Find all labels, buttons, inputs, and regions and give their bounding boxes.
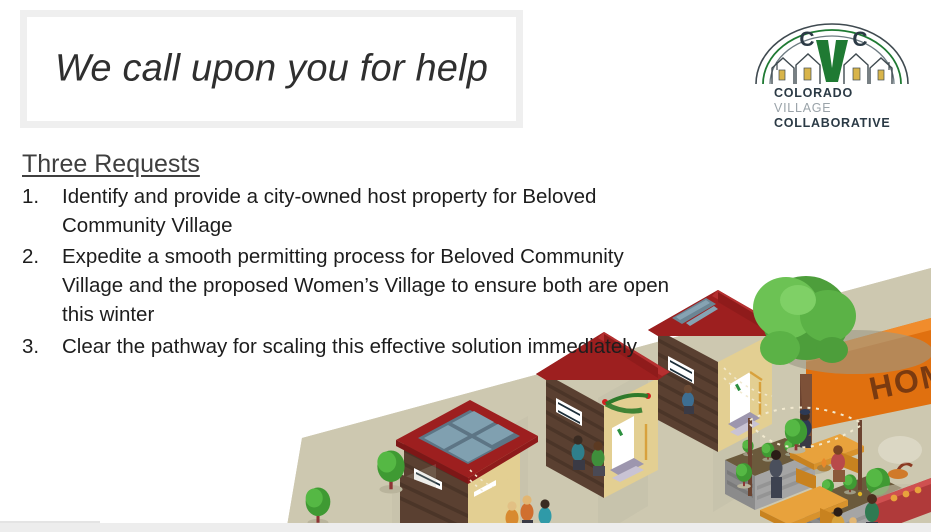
person-figure xyxy=(770,450,783,498)
tree-shadow xyxy=(777,330,931,374)
picnic-table-back xyxy=(790,434,864,490)
string-light-poles xyxy=(748,392,862,502)
list-item-number: 1. xyxy=(22,182,48,211)
section-heading: Three Requests xyxy=(22,150,200,179)
garden-planter-left xyxy=(725,438,815,510)
window xyxy=(414,468,442,498)
tree-courtyard-c xyxy=(736,463,752,488)
door xyxy=(612,416,634,470)
tiny-house-2 xyxy=(396,400,552,532)
person-figure xyxy=(682,385,694,414)
title-box: We call upon you for help xyxy=(20,10,523,128)
slide-canvas: HOME xyxy=(0,0,931,532)
door xyxy=(730,372,750,424)
food-stand xyxy=(869,436,931,532)
logo-line-village: VILLAGE xyxy=(774,101,890,116)
list-item: 2. Expedite a smooth permitting process … xyxy=(20,242,680,329)
requests-list: 1. Identify and provide a city-owned hos… xyxy=(20,182,680,363)
cvc-logo: C C COLORADO VILLAGE COLLABORATIVE xyxy=(742,18,922,130)
list-item-text: Clear the pathway for scaling this effec… xyxy=(62,332,680,361)
list-item-text: Identify and provide a city-owned host p… xyxy=(62,182,680,240)
person-figure xyxy=(831,445,845,482)
tree-front-left xyxy=(306,488,331,527)
person-figure xyxy=(572,435,586,470)
list-item-text: Expedite a smooth permitting process for… xyxy=(62,242,680,329)
viewer-bottom-strip xyxy=(0,523,931,532)
logo-line-collaborative: COLLABORATIVE xyxy=(774,116,890,131)
logo-line-colorado: COLORADO xyxy=(774,86,890,101)
solar-panel xyxy=(418,410,520,464)
cvc-arch-icon: C C xyxy=(750,18,914,88)
window xyxy=(556,398,582,426)
home-banner-ramp-top xyxy=(806,318,931,362)
list-item: 3. Clear the pathway for scaling this ef… xyxy=(20,332,680,361)
logo-wordmark: COLORADO VILLAGE COLLABORATIVE xyxy=(774,86,890,130)
list-item-number: 3. xyxy=(22,332,48,361)
person-figure xyxy=(799,409,812,448)
tiny-house-1 xyxy=(392,464,468,532)
fire-pit xyxy=(817,458,831,472)
list-item-number: 2. xyxy=(22,242,48,271)
tree-courtyard-a xyxy=(785,419,807,454)
logo-letter-c-right: C xyxy=(852,28,867,51)
tree-courtyard-b xyxy=(866,468,890,506)
tree-left xyxy=(377,450,404,493)
page-title: We call upon you for help xyxy=(55,48,488,91)
home-banner-label: HOME xyxy=(866,350,931,407)
list-item: 1. Identify and provide a city-owned hos… xyxy=(20,182,680,240)
logo-letter-v xyxy=(816,40,848,82)
home-banner-ramp xyxy=(806,318,931,430)
courtyard-tree xyxy=(753,276,856,475)
logo-letter-c-left: C xyxy=(799,28,814,51)
person-figure xyxy=(592,441,606,476)
